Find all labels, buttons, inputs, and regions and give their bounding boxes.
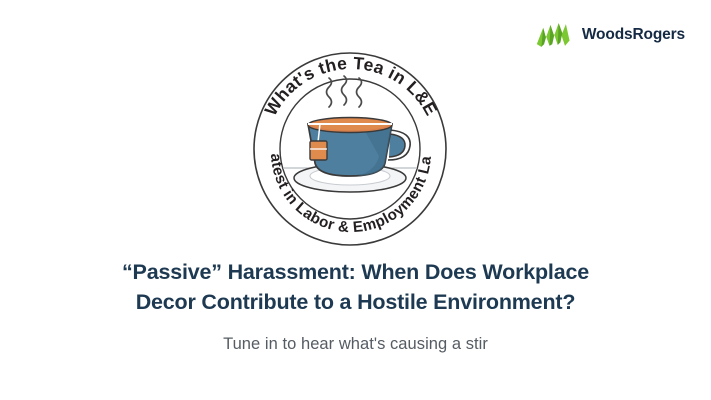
page-title-line2: Decor Contribute to a Hostile Environmen…: [136, 290, 576, 314]
whats-the-tea-emblem: What's the Tea in L&E Latest in Labor & …: [250, 50, 450, 248]
woodsrogers-logo[interactable]: WoodsRogers: [535, 22, 685, 48]
woodsrogers-wordmark: WoodsRogers: [582, 26, 685, 44]
title-block: “Passive” Harassment: When Does Workplac…: [0, 258, 711, 354]
woodsrogers-w-mark-icon: [535, 22, 575, 48]
page-subtitle: Tune in to hear what's causing a stir: [0, 317, 711, 354]
title-slide: WoodsRogers What's the Tea in L&E Latest…: [0, 0, 711, 400]
page-title-line1: “Passive” Harassment: When Does Workplac…: [122, 260, 589, 284]
page-title: “Passive” Harassment: When Does Workplac…: [0, 258, 711, 317]
